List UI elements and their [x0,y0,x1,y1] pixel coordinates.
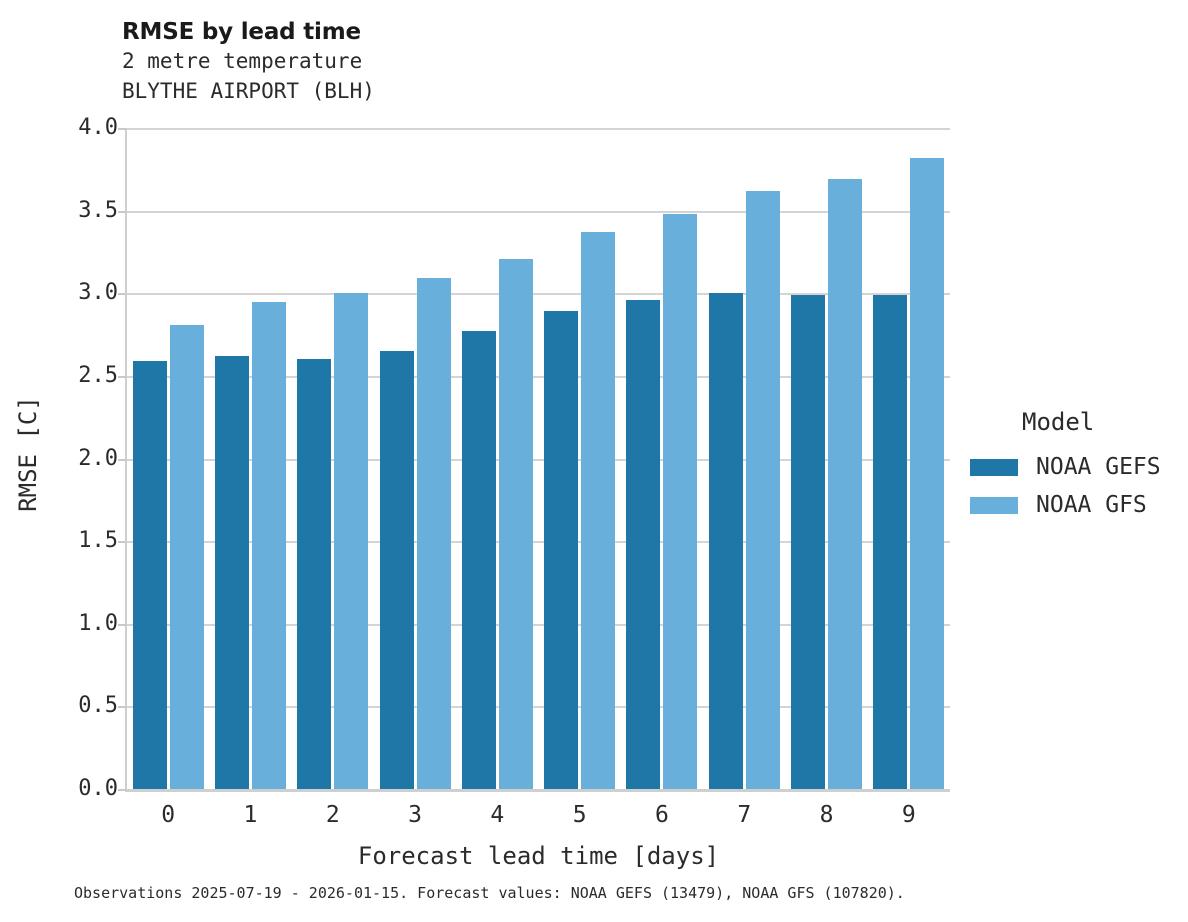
legend-item[interactable]: NOAA GEFS [970,450,1185,484]
page-title: RMSE by lead time [122,18,942,46]
y-axis-tick-label: 2.0 [48,448,118,470]
y-axis-tick-mark [118,706,126,708]
plot-area [127,128,950,789]
gridline [127,376,950,378]
y-axis-tick-mark [118,789,126,791]
bar [297,359,331,789]
bar [791,295,825,789]
footer-note: Observations 2025-07-19 - 2026-01-15. Fo… [74,884,905,902]
x-axis-tick-label: 8 [797,802,857,828]
y-axis-tick-label: 4.0 [48,117,118,139]
legend-item-label: NOAA GFS [1036,492,1147,518]
y-axis-tick-label: 3.0 [48,282,118,304]
bar [873,295,907,789]
bar [215,356,249,789]
legend: Model NOAA GEFSNOAA GFS [970,408,1185,526]
bar [663,214,697,789]
x-axis-tick-label: 7 [714,802,774,828]
legend-rows: NOAA GEFSNOAA GFS [970,450,1185,522]
y-axis-tick-mark [118,128,126,130]
x-axis-tick-label: 3 [385,802,445,828]
gridline [127,128,950,130]
y-axis-tick-mark [118,293,126,295]
x-axis-tick-label: 1 [220,802,280,828]
x-axis-tick-label: 5 [550,802,610,828]
gridline [127,541,950,543]
gridline [127,624,950,626]
x-axis-title: Forecast lead time [days] [127,842,950,870]
bar [170,325,204,789]
bar [581,232,615,789]
title-block: RMSE by lead time 2 metre temperature BL… [122,18,942,106]
y-axis-tick-label: 0.5 [48,695,118,717]
x-axis-tick-labels: 0123456789 [127,802,950,836]
bar [499,259,533,789]
x-axis-tick-label: 0 [138,802,198,828]
legend-title: Model [1022,408,1185,436]
y-axis-title: RMSE [C] [14,374,42,534]
bar [380,351,414,789]
gridline [127,459,950,461]
y-axis-tick-mark [118,376,126,378]
bar [910,158,944,789]
bar [626,300,660,789]
y-axis-tick-label: 1.5 [48,530,118,552]
x-axis-tick-label: 9 [879,802,939,828]
gridline [127,211,950,213]
bar [417,278,451,789]
legend-swatch [970,497,1018,514]
y-axis-tick-label: 1.0 [48,613,118,635]
chart-station-label: BLYTHE AIRPORT (BLH) [122,76,942,106]
y-axis-tick-mark [118,459,126,461]
legend-item[interactable]: NOAA GFS [970,488,1185,522]
bar [133,361,167,789]
y-axis-tick-mark [118,211,126,213]
bar [828,179,862,789]
bar [334,293,368,789]
x-axis-tick-label: 4 [467,802,527,828]
legend-item-label: NOAA GEFS [1036,454,1161,480]
y-axis-tick-label: 0.0 [48,778,118,800]
chart-subtitle: 2 metre temperature [122,46,942,76]
x-axis-tick-label: 2 [303,802,363,828]
x-axis-tick-label: 6 [632,802,692,828]
bar [709,293,743,789]
bar [746,191,780,789]
legend-swatch [970,459,1018,476]
y-axis-tick-mark [118,541,126,543]
bar [544,311,578,789]
bar [462,331,496,789]
chart-figure: RMSE by lead time 2 metre temperature BL… [0,0,1188,922]
gridline [127,706,950,708]
x-axis-spine [125,789,950,792]
y-axis-tick-label: 2.5 [48,365,118,387]
y-axis-tick-label: 3.5 [48,200,118,222]
bar [252,302,286,789]
y-axis-tick-mark [118,624,126,626]
gridline [127,293,950,295]
y-axis-tick-labels: 0.00.51.01.52.02.53.03.54.0 [38,0,118,922]
